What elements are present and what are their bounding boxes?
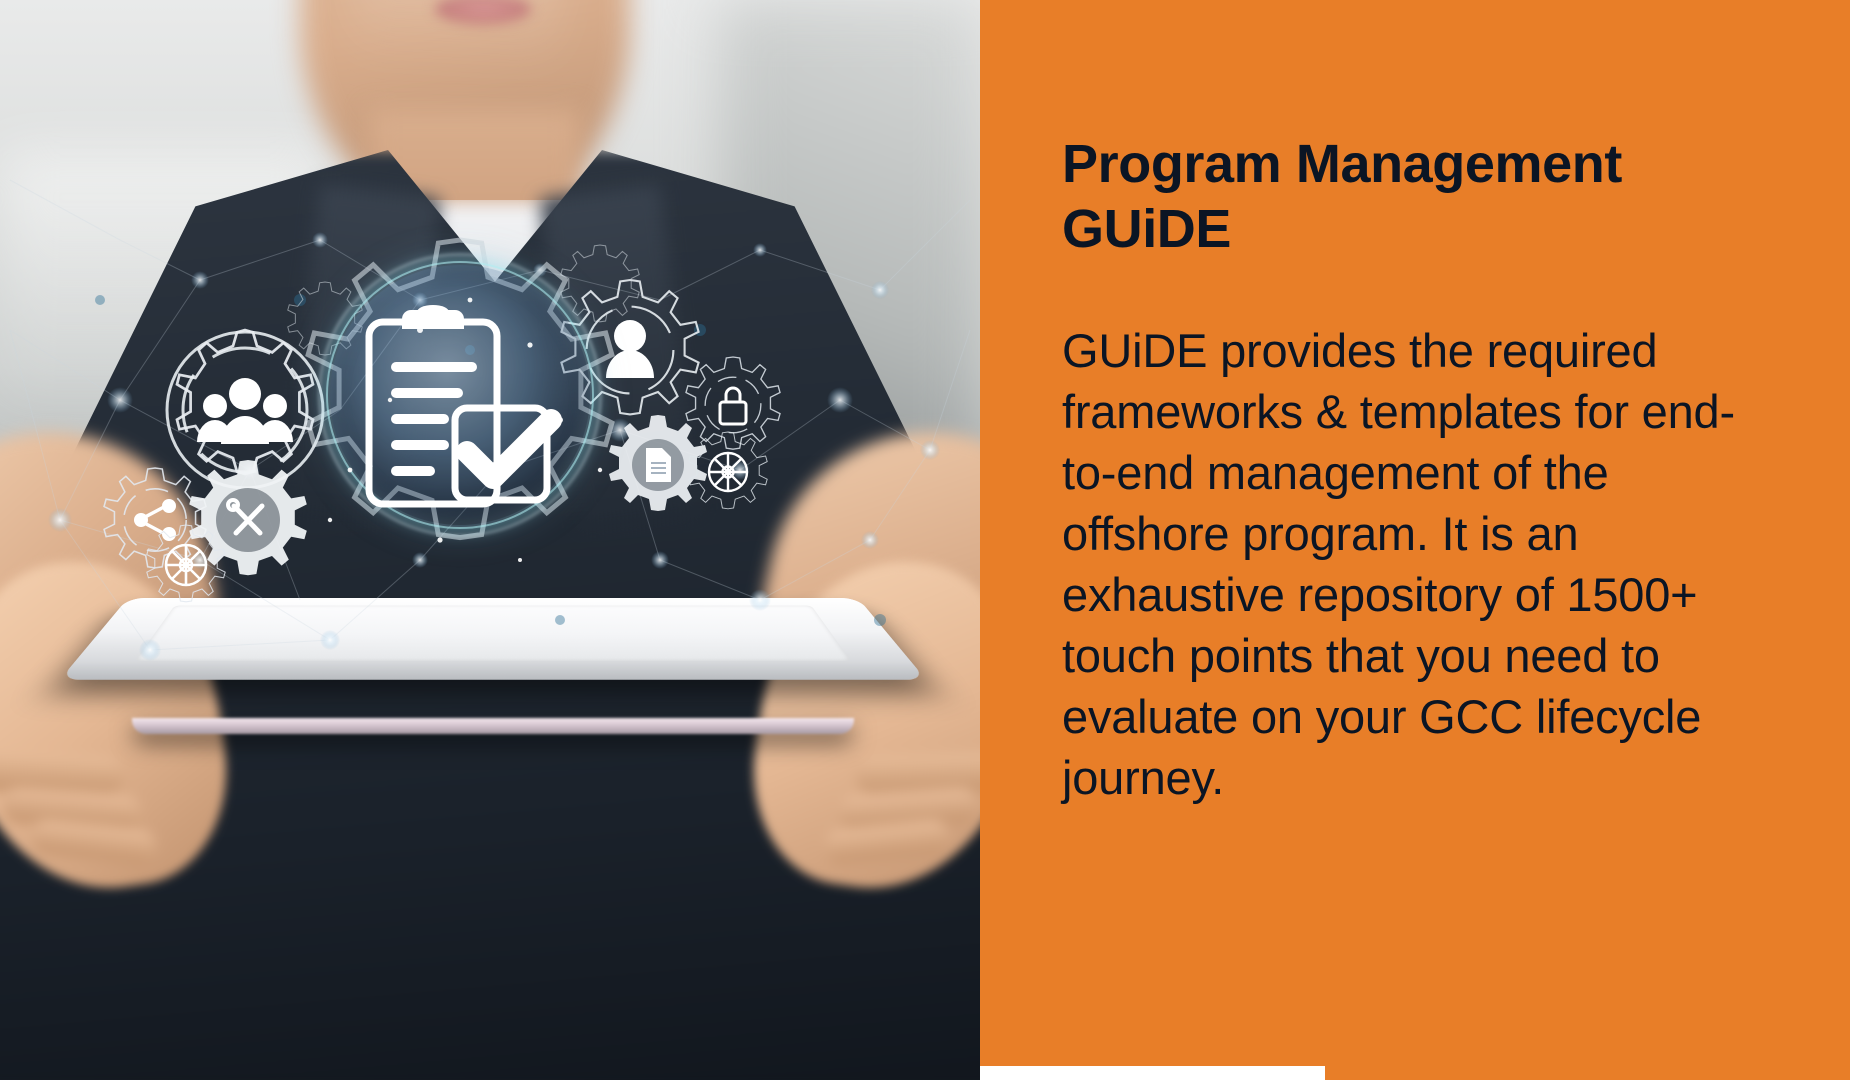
sparkle-overlay — [0, 0, 980, 1080]
description-text: GUiDE provides the required frameworks &… — [1062, 320, 1762, 809]
page-title: Program Management GUiDE — [1062, 132, 1702, 262]
bottom-accent-strip — [980, 1066, 1325, 1080]
promo-banner: Program Management GUiDE GUiDE provides … — [0, 0, 1850, 1080]
copy-panel: Program Management GUiDE GUiDE provides … — [980, 0, 1850, 1080]
hero-photo-panel — [0, 0, 980, 1080]
